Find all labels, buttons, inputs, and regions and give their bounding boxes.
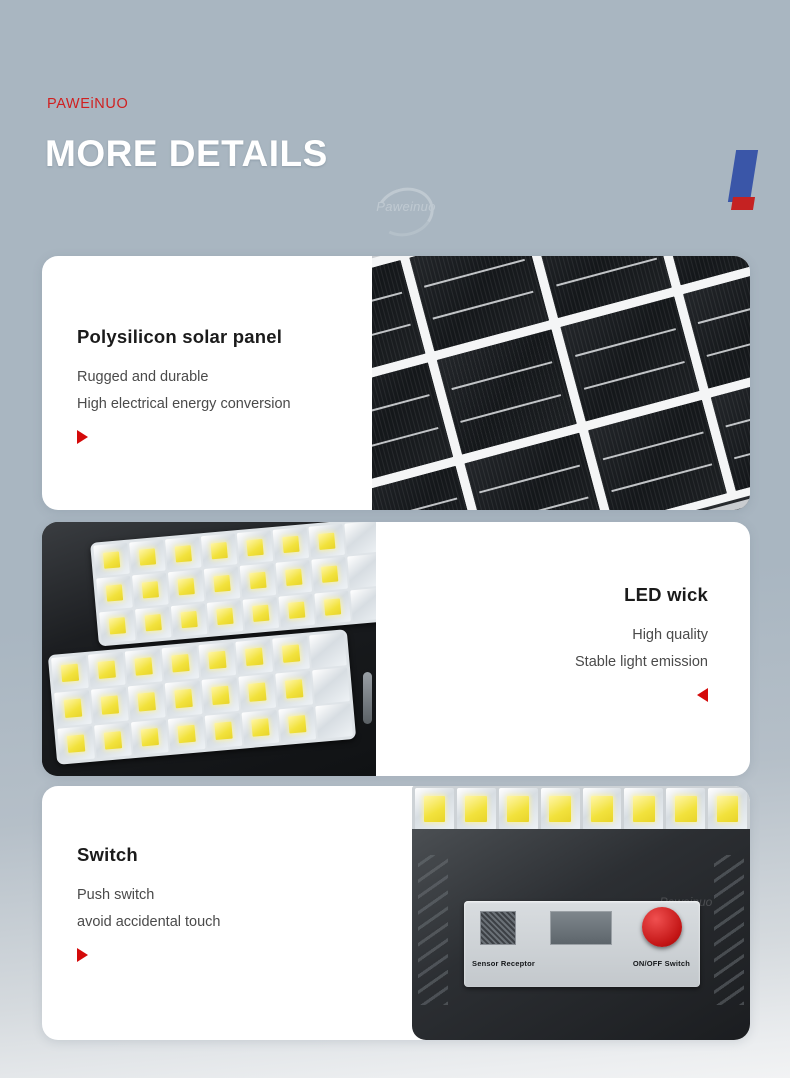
switch-feature-2: avoid accidental touch — [77, 909, 221, 936]
page-title: MORE DETAILS — [45, 133, 328, 175]
led-lens — [499, 788, 538, 830]
led-lens — [132, 573, 169, 607]
switch-feature-1: Push switch — [77, 882, 221, 909]
ribbon-blue-bar — [728, 150, 758, 202]
led-lens — [125, 649, 163, 685]
led-lens — [129, 540, 166, 574]
solar-panel-feature-2: High electrical energy conversion — [77, 391, 291, 418]
led-lens — [171, 603, 208, 637]
led-side-rail — [363, 672, 372, 724]
sensor-receptor-label: Sensor Receptor — [472, 959, 535, 968]
led-lens — [165, 680, 203, 716]
led-lens — [272, 636, 310, 672]
housing-tread-left — [418, 855, 448, 1005]
led-lens — [204, 566, 241, 600]
led-lens — [275, 671, 313, 707]
led-lens — [201, 533, 238, 567]
led-lens — [94, 722, 132, 758]
led-lens — [205, 712, 243, 748]
led-wick-features: High quality Stable light emission — [575, 622, 708, 676]
led-lens — [315, 703, 353, 739]
led-lens — [96, 576, 133, 610]
led-top-strip — [412, 786, 750, 833]
led-wick-feature-2: Stable light emission — [575, 649, 708, 676]
led-wick-title: LED wick — [575, 584, 708, 606]
led-lens — [235, 639, 273, 675]
led-lens — [457, 788, 496, 830]
led-lens — [237, 530, 274, 564]
detail-card-led-wick: LED wick High quality Stable light emiss… — [42, 522, 750, 776]
solar-panel-photo — [372, 256, 750, 510]
switch-title: Switch — [77, 844, 221, 866]
led-lens — [311, 557, 348, 591]
led-lens — [57, 725, 95, 761]
led-lens — [278, 593, 315, 627]
onoff-button[interactable] — [642, 907, 682, 947]
solar-panel-title: Polysilicon solar panel — [77, 326, 291, 348]
brand-name: PAWEiNUO — [47, 96, 128, 112]
led-lens — [243, 597, 280, 631]
led-photo — [42, 522, 376, 776]
led-lens — [541, 788, 580, 830]
led-lens — [165, 536, 202, 570]
watermark-ring-icon — [371, 181, 439, 242]
control-plate: Sensor Receptor ON/OFF Switch — [464, 901, 700, 987]
led-lens — [135, 606, 172, 640]
led-lens — [54, 690, 92, 726]
led-lens — [314, 590, 351, 624]
led-lens — [415, 788, 454, 830]
led-lens — [666, 788, 705, 830]
led-lens — [241, 709, 279, 745]
header-watermark: Paweinuo — [358, 186, 454, 232]
led-lens — [131, 719, 169, 755]
solar-panel-feature-1: Rugged and durable — [77, 364, 291, 391]
led-lens — [583, 788, 622, 830]
led-lens — [51, 655, 89, 691]
led-lens — [240, 563, 277, 597]
led-lens — [99, 609, 136, 643]
led-lens — [624, 788, 663, 830]
solar-panel-graphic — [372, 256, 750, 510]
led-lens — [708, 788, 747, 830]
led-lens — [202, 677, 240, 713]
led-lens — [91, 687, 129, 723]
product-detail-page: PAWEiNUO MORE DETAILS Paweinuo Polysilic… — [0, 0, 790, 1078]
led-lens — [168, 570, 205, 604]
led-lens — [88, 652, 126, 688]
led-wick-feature-1: High quality — [575, 622, 708, 649]
triangle-left-icon — [697, 688, 708, 702]
led-lens — [273, 527, 310, 561]
led-lens — [168, 716, 206, 752]
led-lens — [207, 600, 244, 634]
display-window — [550, 911, 612, 945]
triangle-right-icon — [77, 948, 88, 962]
housing-tread-right — [714, 855, 744, 1005]
detail-card-switch: Switch Push switch avoid accidental touc… — [42, 786, 750, 1040]
led-lens — [312, 668, 350, 704]
detail-card-solar-panel: Polysilicon solar panel Rugged and durab… — [42, 256, 750, 510]
switch-features: Push switch avoid accidental touch — [77, 882, 221, 936]
led-wick-text-block: LED wick High quality Stable light emiss… — [575, 584, 708, 702]
sensor-receptor-window — [480, 911, 516, 945]
led-lens — [278, 706, 316, 742]
onoff-switch-label: ON/OFF Switch — [633, 959, 690, 968]
led-lens — [238, 674, 276, 710]
triangle-right-icon — [77, 430, 88, 444]
solar-panel-frame — [372, 256, 750, 510]
switch-text-block: Switch Push switch avoid accidental touc… — [77, 844, 221, 962]
watermark-text: Paweinuo — [358, 199, 454, 214]
solar-panel-text-block: Polysilicon solar panel Rugged and durab… — [77, 326, 291, 444]
led-lens — [350, 587, 376, 621]
led-lens — [309, 632, 347, 668]
led-lens — [128, 684, 166, 720]
led-lens — [162, 645, 200, 681]
led-lens — [347, 554, 376, 588]
ribbon-logo-icon — [728, 150, 762, 212]
switch-housing: Paweinuo Sensor Receptor ON/OFF Switch — [412, 829, 750, 1040]
ribbon-red-tip — [731, 197, 755, 210]
led-lens — [198, 642, 236, 678]
solar-panel-features: Rugged and durable High electrical energ… — [77, 364, 291, 418]
led-lens — [93, 543, 130, 577]
led-lens — [275, 560, 312, 594]
led-lens — [308, 524, 345, 558]
led-lens — [344, 522, 376, 555]
switch-photo: Paweinuo Sensor Receptor ON/OFF Switch — [412, 786, 750, 1040]
